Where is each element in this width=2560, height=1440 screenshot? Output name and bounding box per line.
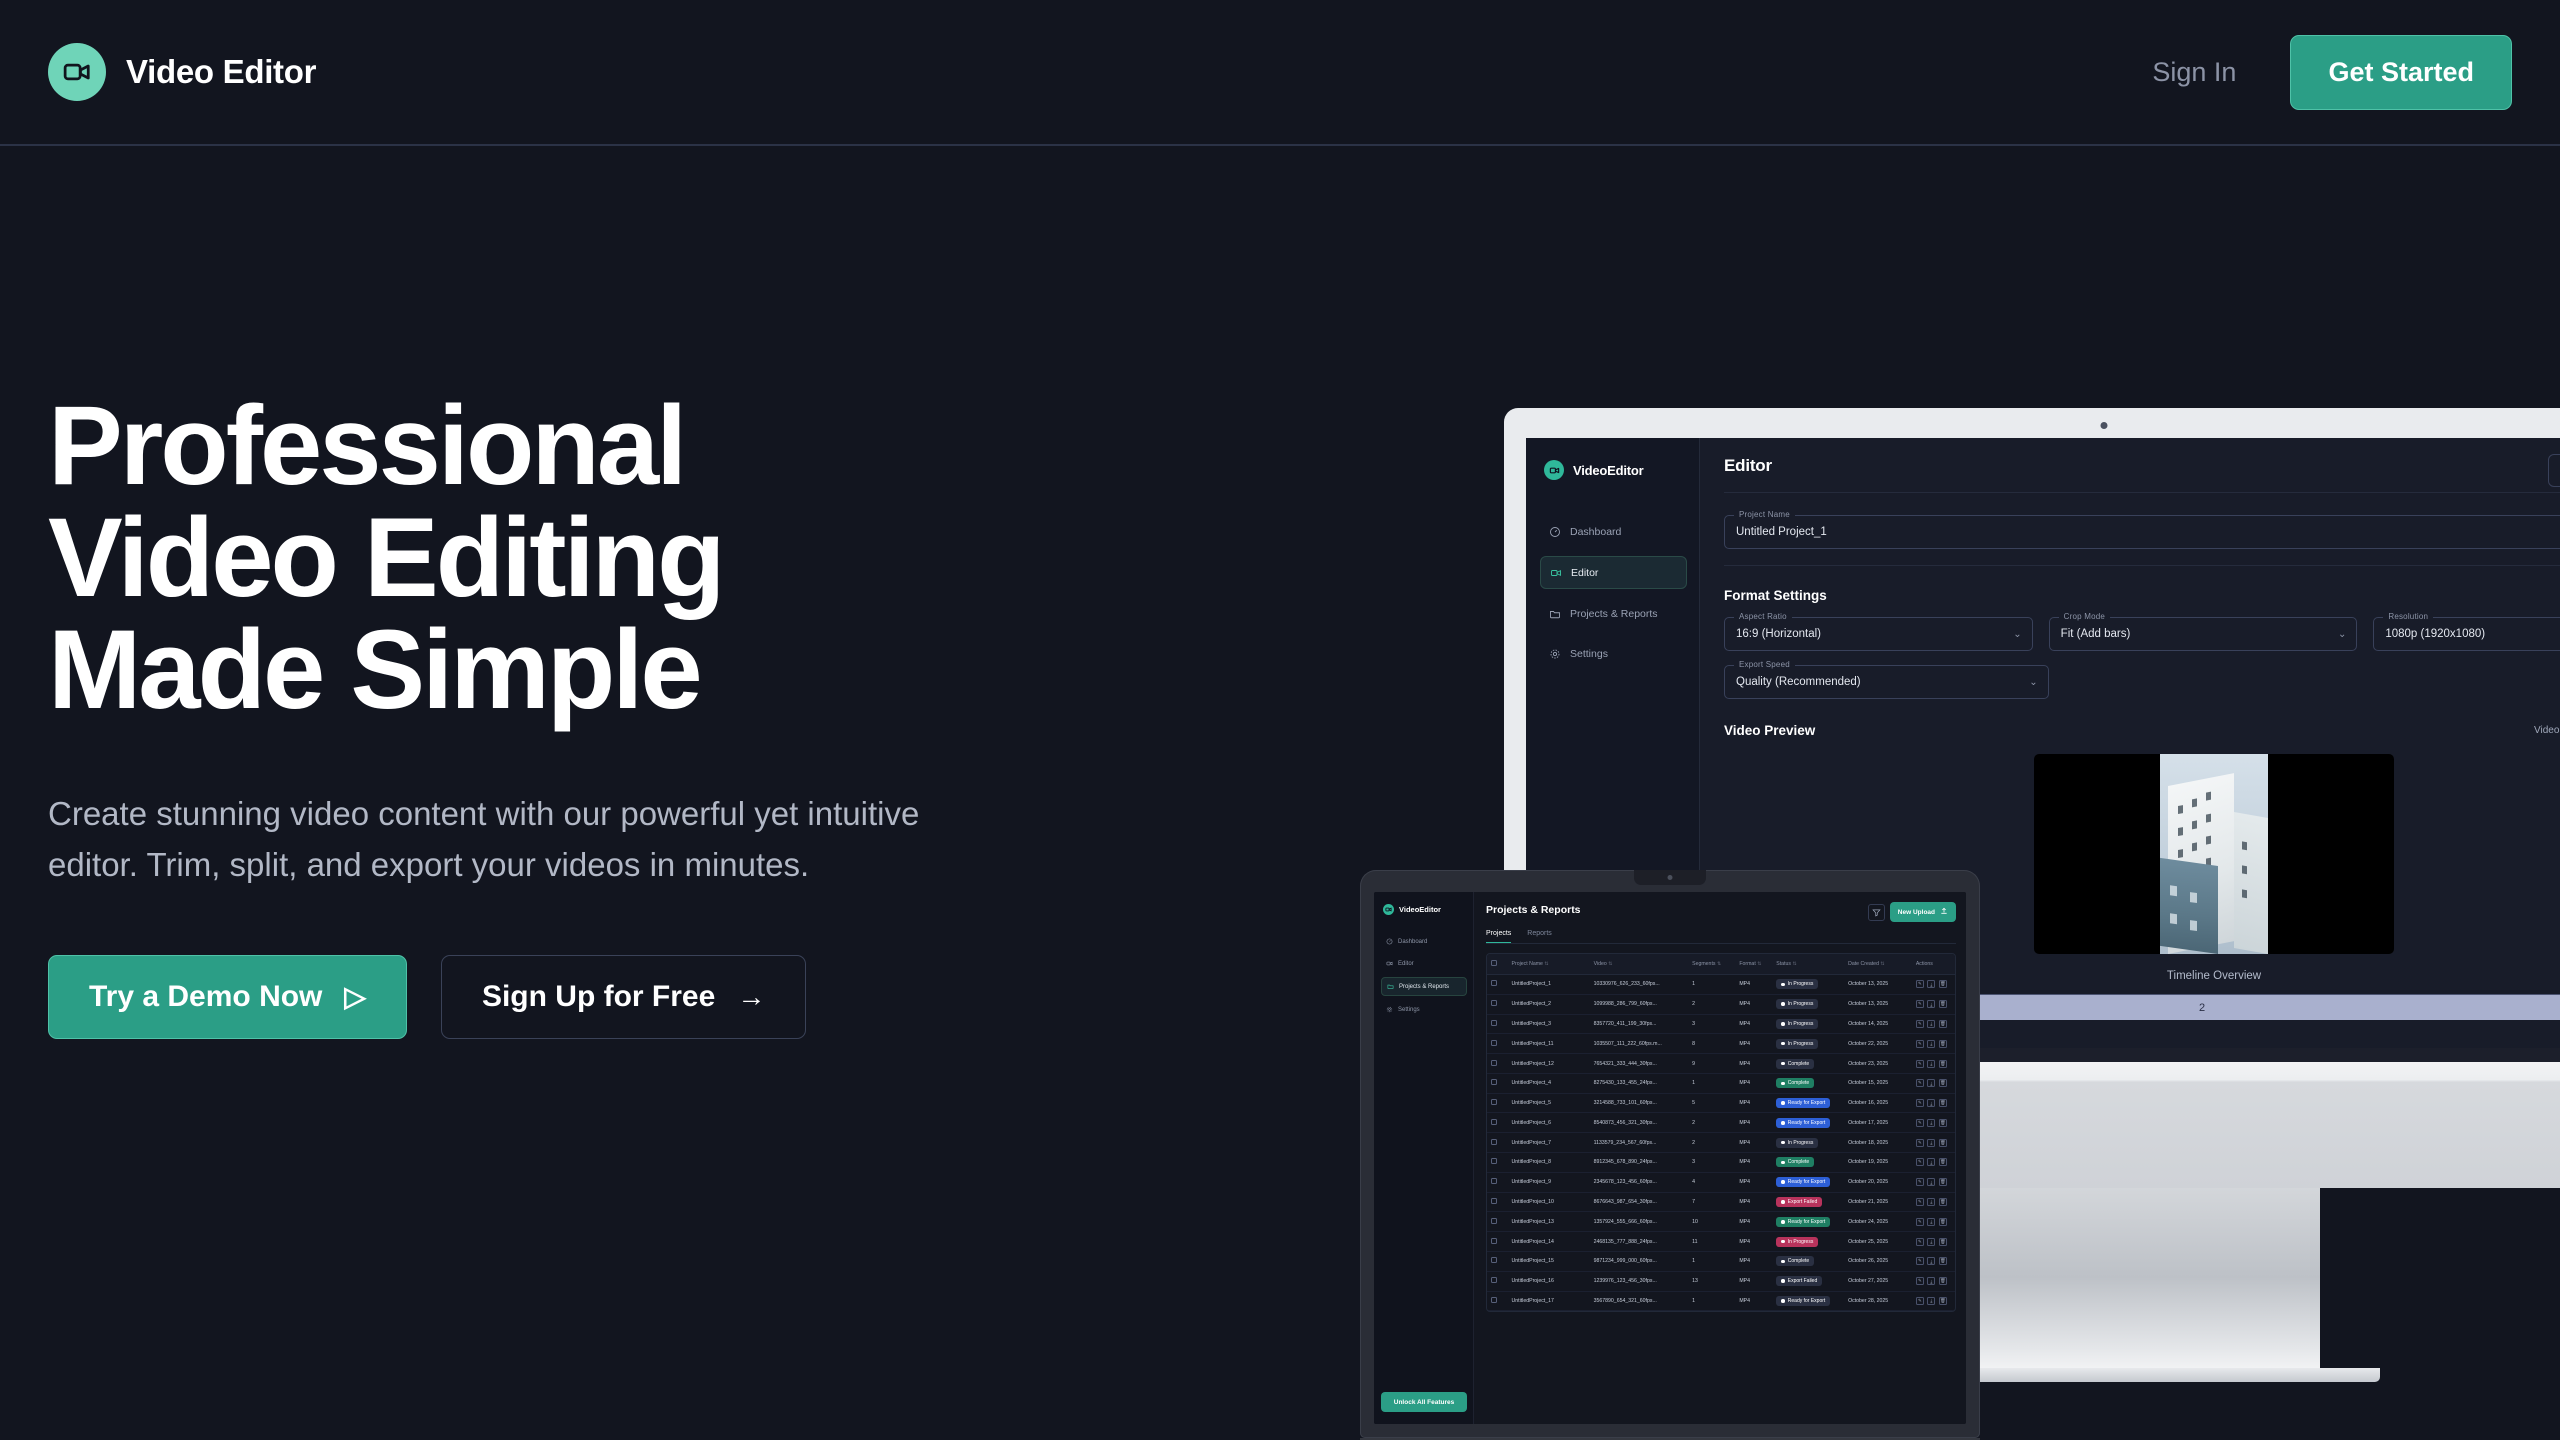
row-checkbox[interactable] (1491, 1178, 1497, 1184)
sort-icon: ⇅ (1717, 961, 1721, 967)
resolution-value: 1080p (1920x1080) (2385, 628, 2485, 640)
sidebar-item-projects-reports[interactable]: Projects & Reports (1381, 977, 1467, 996)
status-dot (1781, 1101, 1785, 1105)
cell-video: 1357924_555_666_60fps... (1590, 1212, 1689, 1232)
hero-title-line-2: Video Editing (48, 502, 1108, 614)
sidebar-item-settings[interactable]: Settings (1381, 1001, 1467, 1018)
cell-project-name: UntitledProject_15 (1508, 1251, 1590, 1271)
cell-select[interactable] (1487, 1073, 1508, 1093)
editor-sidebar-brand-label: VideoEditor (1573, 463, 1644, 478)
delete-icon[interactable]: 🗑 (1939, 1079, 1947, 1087)
cell-format: MP4 (1735, 975, 1772, 995)
cell-select[interactable] (1487, 1192, 1508, 1212)
row-checkbox[interactable] (1491, 1297, 1497, 1303)
video-preview-header: Video Preview Video player size (1724, 723, 2560, 738)
status-label: Ready for Export (1788, 1120, 1826, 1126)
cell-video: 7654321_333_444_30fps... (1590, 1054, 1689, 1074)
status-dot (1781, 1200, 1785, 1204)
cell-date-created: October 25, 2025 (1844, 1232, 1912, 1252)
edit-icon[interactable]: ✎ (1916, 1139, 1924, 1147)
hero-subtitle-line-1: Create stunning video content with our p… (48, 788, 1108, 839)
edit-icon[interactable]: ✎ (1916, 1040, 1924, 1048)
th-actions: Actions (1912, 954, 1955, 975)
projects-sidebar-brand-label: VideoEditor (1399, 905, 1441, 914)
download-icon[interactable]: ⤓ (1927, 980, 1935, 988)
cell-video: 8275430_133_455_24fps... (1590, 1073, 1689, 1093)
monitor-camera-icon (2101, 422, 2108, 429)
cell-video: 1099988_286_799_60fps... (1590, 994, 1689, 1014)
row-checkbox[interactable] (1491, 1040, 1497, 1046)
sidebar-item-projects-reports[interactable]: Projects & Reports (1540, 598, 1687, 629)
cell-date-created: October 17, 2025 (1844, 1113, 1912, 1133)
row-checkbox[interactable] (1491, 1238, 1497, 1244)
status-badge: Export Failed (1776, 1276, 1822, 1286)
delete-icon[interactable]: 🗑 (1939, 1020, 1947, 1028)
cell-video: 3567890_654_321_60fps... (1590, 1291, 1689, 1311)
row-checkbox[interactable] (1491, 1198, 1497, 1204)
sidebar-item-editor[interactable]: Editor (1381, 955, 1467, 972)
cell-select[interactable] (1487, 1113, 1508, 1133)
cell-video: 8912345_678_890_24fps... (1590, 1153, 1689, 1173)
edit-icon[interactable]: ✎ (1916, 1079, 1924, 1087)
editor-divider-2 (1724, 565, 2560, 566)
edit-icon[interactable]: ✎ (1916, 980, 1924, 988)
download-icon[interactable]: ⤓ (1927, 1000, 1935, 1008)
th-date-created[interactable]: Date Created ⇅ (1844, 954, 1912, 975)
cell-actions: ✎⤓🗑 (1912, 1153, 1955, 1173)
cell-segments: 1 (1688, 1073, 1735, 1093)
delete-icon[interactable]: 🗑 (1939, 1238, 1947, 1246)
sidebar-item-label: Settings (1570, 648, 1608, 660)
edit-icon[interactable]: ✎ (1916, 1277, 1924, 1285)
th-format[interactable]: Format ⇅ (1735, 954, 1772, 975)
cell-format: MP4 (1735, 1212, 1772, 1232)
cell-select[interactable] (1487, 1153, 1508, 1173)
status-label: Ready for Export (1788, 1100, 1826, 1106)
cell-select[interactable] (1487, 975, 1508, 995)
table-row[interactable]: UntitledProject_161239976_123_456_30fps.… (1487, 1271, 1955, 1291)
cell-format: MP4 (1735, 1113, 1772, 1133)
cell-status: In Progress (1772, 1133, 1844, 1153)
folder-icon (1548, 607, 1561, 620)
cell-status: Export Failed (1772, 1192, 1844, 1212)
projects-tabs: Projects Reports (1486, 930, 1956, 944)
cell-video: 1239976_123_456_30fps... (1590, 1271, 1689, 1291)
status-dot (1781, 1121, 1785, 1125)
cell-actions: ✎⤓🗑 (1912, 994, 1955, 1014)
status-label: Ready for Export (1788, 1179, 1826, 1185)
aspect-ratio-select[interactable]: Aspect Ratio 16:9 (Horizontal) ⌄ (1724, 617, 2033, 651)
format-fields-row-2: Export Speed Quality (Recommended) ⌄ (1724, 665, 2560, 699)
cell-format: MP4 (1735, 1133, 1772, 1153)
cell-segments: 4 (1688, 1172, 1735, 1192)
edit-icon[interactable]: ✎ (1916, 1000, 1924, 1008)
cell-project-name: UntitledProject_5 (1508, 1093, 1590, 1113)
cell-select[interactable] (1487, 1251, 1508, 1271)
project-name-label: Project Name (1734, 510, 1795, 519)
save-button[interactable]: Save (2548, 454, 2560, 487)
cell-project-name: UntitledProject_2 (1508, 994, 1590, 1014)
cell-select[interactable] (1487, 1271, 1508, 1291)
download-icon[interactable]: ⤓ (1927, 1297, 1935, 1305)
cell-actions: ✎⤓🗑 (1912, 1093, 1955, 1113)
cell-select[interactable] (1487, 1093, 1508, 1113)
cell-segments: 3 (1688, 1153, 1735, 1173)
table-row[interactable]: UntitledProject_110330976_626_233_60fps.… (1487, 975, 1955, 995)
download-icon[interactable]: ⤓ (1927, 1198, 1935, 1206)
row-checkbox[interactable] (1491, 1099, 1497, 1105)
cell-segments: 10 (1688, 1212, 1735, 1232)
status-badge: In Progress (1776, 1019, 1818, 1029)
sign-in-link[interactable]: Sign In (2152, 57, 2236, 88)
device-mockup-stage: VideoEditor Dashboard Edi (1340, 380, 2560, 1260)
status-dot (1781, 1161, 1785, 1165)
status-badge: Complete (1776, 1256, 1814, 1266)
status-badge: In Progress (1776, 1237, 1818, 1247)
editor-divider (1724, 492, 2560, 493)
delete-icon[interactable]: 🗑 (1939, 1119, 1947, 1127)
row-checkbox[interactable] (1491, 1218, 1497, 1224)
sidebar-item-label: Editor (1398, 961, 1414, 967)
new-upload-label: New Upload (1898, 909, 1935, 916)
cell-segments: 11 (1688, 1232, 1735, 1252)
row-checkbox[interactable] (1491, 1020, 1497, 1026)
tab-projects[interactable]: Projects (1486, 930, 1511, 943)
sidebar-item-dashboard[interactable]: Dashboard (1381, 933, 1467, 950)
edit-icon[interactable]: ✎ (1916, 1297, 1924, 1305)
folder-icon (1387, 983, 1394, 990)
edit-icon[interactable]: ✎ (1916, 1218, 1924, 1226)
video-camera-icon (48, 43, 106, 101)
header-actions: Sign In Get Started (2152, 35, 2512, 110)
arrow-right-icon: → (737, 983, 765, 1011)
cell-actions: ✎⤓🗑 (1912, 1073, 1955, 1093)
video-camera-icon (1383, 904, 1394, 915)
status-dot (1781, 1141, 1785, 1145)
new-upload-button[interactable]: New Upload (1890, 902, 1956, 922)
site-header: Video Editor Sign In Get Started (0, 0, 2560, 146)
sort-icon: ⇅ (1544, 961, 1548, 967)
delete-icon[interactable]: 🗑 (1939, 1000, 1947, 1008)
row-checkbox[interactable] (1491, 1060, 1497, 1066)
video-preview-title: Video Preview (1724, 723, 1815, 738)
row-checkbox[interactable] (1491, 1277, 1497, 1283)
status-label: In Progress (1788, 981, 1814, 987)
table-row[interactable]: UntitledProject_38357720_411_199_30fps..… (1487, 1014, 1955, 1034)
table-row[interactable]: UntitledProject_48275430_133_455_24fps..… (1487, 1073, 1955, 1093)
export-speed-value: Quality (Recommended) (1736, 676, 1861, 688)
sign-up-button[interactable]: Sign Up for Free → (441, 955, 806, 1039)
edit-icon[interactable]: ✎ (1916, 1119, 1924, 1127)
cell-video: 8357720_411_199_30fps... (1590, 1014, 1689, 1034)
delete-icon[interactable]: 🗑 (1939, 980, 1947, 988)
table-row[interactable]: UntitledProject_88912345_678_890_24fps..… (1487, 1153, 1955, 1173)
download-icon[interactable]: ⤓ (1927, 1079, 1935, 1087)
cell-status: Export Failed (1772, 1271, 1844, 1291)
download-icon[interactable]: ⤓ (1927, 1119, 1935, 1127)
cell-segments: 2 (1688, 1113, 1735, 1133)
video-camera-icon (1544, 460, 1564, 480)
cell-actions: ✎⤓🗑 (1912, 1192, 1955, 1212)
status-badge: Export Failed (1776, 1197, 1822, 1207)
download-icon[interactable]: ⤓ (1927, 1099, 1935, 1107)
select-all-checkbox[interactable] (1491, 960, 1497, 966)
brand-name: Video Editor (126, 53, 316, 91)
status-label: In Progress (1788, 1021, 1814, 1027)
sidebar-item-label: Projects & Reports (1399, 984, 1449, 990)
status-badge: Ready for Export (1776, 1118, 1830, 1128)
cell-status: Complete (1772, 1054, 1844, 1074)
cell-date-created: October 27, 2025 (1844, 1271, 1912, 1291)
th-video[interactable]: Video ⇅ (1590, 954, 1689, 975)
table-row[interactable]: UntitledProject_21099988_286_799_60fps..… (1487, 994, 1955, 1014)
cell-actions: ✎⤓🗑 (1912, 1054, 1955, 1074)
cell-video: 2345678_123_456_60fps... (1590, 1172, 1689, 1192)
cell-date-created: October 21, 2025 (1844, 1192, 1912, 1212)
th-segments[interactable]: Segments ⇅ (1688, 954, 1735, 975)
cell-segments: 1 (1688, 1291, 1735, 1311)
cell-segments: 1 (1688, 1251, 1735, 1271)
cell-actions: ✎⤓🗑 (1912, 1034, 1955, 1054)
download-icon[interactable]: ⤓ (1927, 1218, 1935, 1226)
cell-project-name: UntitledProject_11 (1508, 1034, 1590, 1054)
status-label: Complete (1788, 1159, 1809, 1165)
edit-icon[interactable]: ✎ (1916, 1158, 1924, 1166)
export-speed-select[interactable]: Export Speed Quality (Recommended) ⌄ (1724, 665, 2049, 699)
cell-date-created: October 14, 2025 (1844, 1014, 1912, 1034)
unlock-all-features-button[interactable]: Unlock All Features (1381, 1392, 1467, 1412)
status-dot (1781, 1260, 1785, 1264)
status-badge: Ready for Export (1776, 1217, 1830, 1227)
download-icon[interactable]: ⤓ (1927, 1178, 1935, 1186)
cell-select[interactable] (1487, 1054, 1508, 1074)
laptop-device: VideoEditor Dashboard Editor (1340, 870, 2130, 1440)
sort-icon: ⇅ (1608, 961, 1612, 967)
status-label: Complete (1788, 1061, 1809, 1067)
cell-select[interactable] (1487, 1172, 1508, 1192)
table-row[interactable]: UntitledProject_53214588_733_101_60fps..… (1487, 1093, 1955, 1113)
cell-select[interactable] (1487, 1034, 1508, 1054)
cell-status: In Progress (1772, 994, 1844, 1014)
status-dot (1781, 1240, 1785, 1244)
edit-icon[interactable]: ✎ (1916, 1020, 1924, 1028)
delete-icon[interactable]: 🗑 (1939, 1178, 1947, 1186)
row-checkbox[interactable] (1491, 1079, 1497, 1085)
page-title: Professional Video Editing Made Simple (48, 390, 1108, 726)
download-icon[interactable]: ⤓ (1927, 1158, 1935, 1166)
aspect-ratio-label: Aspect Ratio (1734, 612, 1792, 621)
edit-icon[interactable]: ✎ (1916, 1198, 1924, 1206)
project-name-value: Untitled Project_1 (1736, 526, 1827, 538)
th-select[interactable] (1487, 954, 1508, 975)
cell-project-name: UntitledProject_16 (1508, 1271, 1590, 1291)
table-row[interactable]: UntitledProject_142468135_777_888_24fps.… (1487, 1232, 1955, 1252)
hero-subtitle: Create stunning video content with our p… (48, 788, 1108, 891)
cell-actions: ✎⤓🗑 (1912, 1113, 1955, 1133)
try-demo-button[interactable]: Try a Demo Now ▷ (48, 955, 407, 1039)
table-row[interactable]: UntitledProject_159871234_999_000_60fps.… (1487, 1251, 1955, 1271)
sidebar-item-settings[interactable]: Settings (1540, 638, 1687, 669)
gear-icon (1386, 1006, 1393, 1013)
tab-reports[interactable]: Reports (1527, 930, 1552, 943)
delete-icon[interactable]: 🗑 (1939, 1139, 1947, 1147)
brand[interactable]: Video Editor (48, 43, 316, 101)
delete-icon[interactable]: 🗑 (1939, 1218, 1947, 1226)
cell-segments: 7 (1688, 1192, 1735, 1212)
download-icon[interactable]: ⤓ (1927, 1060, 1935, 1068)
cell-format: MP4 (1735, 1153, 1772, 1173)
chevron-down-icon: ⌄ (2029, 677, 2037, 688)
cell-format: MP4 (1735, 1093, 1772, 1113)
delete-icon[interactable]: 🗑 (1939, 1158, 1947, 1166)
resolution-select[interactable]: Resolution 1080p (1920x1080) ⌄ (2373, 617, 2560, 651)
delete-icon[interactable]: 🗑 (1939, 1198, 1947, 1206)
download-icon[interactable]: ⤓ (1927, 1277, 1935, 1285)
resolution-label: Resolution (2383, 612, 2433, 621)
edit-icon[interactable]: ✎ (1916, 1257, 1924, 1265)
delete-icon[interactable]: 🗑 (1939, 1099, 1947, 1107)
projects-sidebar-brand: VideoEditor (1381, 904, 1467, 915)
sidebar-item-editor[interactable]: Editor (1540, 556, 1687, 589)
projects-sidebar: VideoEditor Dashboard Editor (1374, 892, 1474, 1424)
row-checkbox[interactable] (1491, 1139, 1497, 1145)
cell-segments: 5 (1688, 1093, 1735, 1113)
status-badge: Complete (1776, 1157, 1814, 1167)
cell-format: MP4 (1735, 1192, 1772, 1212)
download-icon[interactable]: ⤓ (1927, 1257, 1935, 1265)
status-dot (1781, 1062, 1785, 1066)
crop-mode-label: Crop Mode (2059, 612, 2110, 621)
delete-icon[interactable]: 🗑 (1939, 1060, 1947, 1068)
row-checkbox[interactable] (1491, 1119, 1497, 1125)
table-row[interactable]: UntitledProject_68540873_456_321_30fps..… (1487, 1113, 1955, 1133)
landing-page: Video Editor Sign In Get Started Profess… (0, 0, 2560, 1440)
cell-actions: ✎⤓🗑 (1912, 1133, 1955, 1153)
cell-date-created: October 15, 2025 (1844, 1073, 1912, 1093)
export-speed-label: Export Speed (1734, 660, 1795, 669)
funnel-icon[interactable] (1868, 904, 1885, 921)
format-fields-row-1: Aspect Ratio 16:9 (Horizontal) ⌄ Crop Mo… (1724, 617, 2560, 651)
row-checkbox[interactable] (1491, 1158, 1497, 1164)
projects-table-body: UntitledProject_110330976_626_233_60fps.… (1487, 975, 1955, 1311)
status-badge: In Progress (1776, 979, 1818, 989)
cell-select[interactable] (1487, 1212, 1508, 1232)
status-badge: In Progress (1776, 999, 1818, 1009)
status-dot (1781, 1299, 1785, 1303)
status-label: In Progress (1788, 1239, 1814, 1245)
cell-format: MP4 (1735, 1073, 1772, 1093)
download-icon[interactable]: ⤓ (1927, 1238, 1935, 1246)
cell-status: Ready for Export (1772, 1212, 1844, 1232)
cell-project-name: UntitledProject_10 (1508, 1192, 1590, 1212)
status-badge: Complete (1776, 1059, 1814, 1069)
cell-project-name: UntitledProject_8 (1508, 1153, 1590, 1173)
edit-icon[interactable]: ✎ (1916, 1060, 1924, 1068)
get-started-button[interactable]: Get Started (2290, 35, 2512, 110)
try-demo-label: Try a Demo Now (89, 980, 322, 1014)
th-project-name[interactable]: Project Name ⇅ (1508, 954, 1590, 975)
cell-select[interactable] (1487, 1133, 1508, 1153)
status-dot (1781, 1279, 1785, 1283)
status-label: Ready for Export (1788, 1219, 1826, 1225)
cell-format: MP4 (1735, 1034, 1772, 1054)
cell-project-name: UntitledProject_12 (1508, 1054, 1590, 1074)
cell-segments: 2 (1688, 1133, 1735, 1153)
aspect-ratio-value: 16:9 (Horizontal) (1736, 628, 1821, 640)
projects-table-element: Project Name ⇅ Video ⇅ Segments ⇅ Format… (1487, 954, 1955, 1311)
cell-date-created: October 23, 2025 (1844, 1054, 1912, 1074)
play-triangle-icon: ▷ (344, 983, 366, 1011)
table-row[interactable]: UntitledProject_127654321_333_444_30fps.… (1487, 1054, 1955, 1074)
gear-icon (1548, 647, 1561, 660)
row-checkbox[interactable] (1491, 980, 1497, 986)
cell-status: Complete (1772, 1073, 1844, 1093)
edit-icon[interactable]: ✎ (1916, 1178, 1924, 1186)
table-row[interactable]: UntitledProject_111035507_111_222_60fps.… (1487, 1034, 1955, 1054)
table-row[interactable]: UntitledProject_108676643_987_654_30fps.… (1487, 1192, 1955, 1212)
sidebar-item-label: Settings (1398, 1007, 1420, 1013)
cell-status: In Progress (1772, 1034, 1844, 1054)
download-icon[interactable]: ⤓ (1927, 1040, 1935, 1048)
delete-icon[interactable]: 🗑 (1939, 1297, 1947, 1305)
cell-status: Ready for Export (1772, 1093, 1844, 1113)
table-row[interactable]: UntitledProject_71133579_234_567_60fps..… (1487, 1133, 1955, 1153)
cell-select[interactable] (1487, 1232, 1508, 1252)
sort-icon: ⇅ (1757, 961, 1761, 967)
cell-video: 8540873_456_321_30fps... (1590, 1113, 1689, 1133)
building-right (2234, 812, 2268, 954)
status-dot (1781, 1082, 1785, 1086)
cell-project-name: UntitledProject_17 (1508, 1291, 1590, 1311)
download-icon[interactable]: ⤓ (1927, 1139, 1935, 1147)
row-checkbox[interactable] (1491, 1257, 1497, 1263)
download-icon[interactable]: ⤓ (1927, 1020, 1935, 1028)
cell-project-name: UntitledProject_4 (1508, 1073, 1590, 1093)
cell-segments: 9 (1688, 1054, 1735, 1074)
cell-video: 10330976_626_233_60fps... (1590, 975, 1689, 995)
table-row[interactable]: UntitledProject_92345678_123_456_60fps..… (1487, 1172, 1955, 1192)
cell-actions: ✎⤓🗑 (1912, 1014, 1955, 1034)
video-frame (2160, 754, 2268, 954)
cell-format: MP4 (1735, 1054, 1772, 1074)
cell-date-created: October 24, 2025 (1844, 1212, 1912, 1232)
cell-select[interactable] (1487, 1014, 1508, 1034)
delete-icon[interactable]: 🗑 (1939, 1277, 1947, 1285)
delete-icon[interactable]: 🗑 (1939, 1040, 1947, 1048)
cell-status: Ready for Export (1772, 1172, 1844, 1192)
cell-date-created: October 18, 2025 (1844, 1133, 1912, 1153)
cell-select[interactable] (1487, 994, 1508, 1014)
sidebar-item-label: Projects & Reports (1570, 608, 1658, 620)
edit-icon[interactable]: ✎ (1916, 1099, 1924, 1107)
sidebar-item-dashboard[interactable]: Dashboard (1540, 516, 1687, 547)
video-camera-icon (1549, 566, 1562, 579)
cell-status: Complete (1772, 1251, 1844, 1271)
cell-select[interactable] (1487, 1291, 1508, 1311)
table-row[interactable]: UntitledProject_173567890_654_321_60fps.… (1487, 1291, 1955, 1311)
th-status[interactable]: Status ⇅ (1772, 954, 1844, 975)
row-checkbox[interactable] (1491, 1000, 1497, 1006)
status-label: Export Failed (1788, 1199, 1817, 1205)
edit-icon[interactable]: ✎ (1916, 1238, 1924, 1246)
table-row[interactable]: UntitledProject_131357924_555_666_60fps.… (1487, 1212, 1955, 1232)
cell-segments: 2 (1688, 994, 1735, 1014)
player-size-control[interactable]: Video player size (2534, 725, 2560, 736)
project-name-field[interactable]: Project Name Untitled Project_1 (1724, 515, 2560, 549)
delete-icon[interactable]: 🗑 (1939, 1257, 1947, 1265)
crop-mode-select[interactable]: Crop Mode Fit (Add bars) ⌄ (2049, 617, 2358, 651)
status-badge: In Progress (1776, 1138, 1818, 1148)
